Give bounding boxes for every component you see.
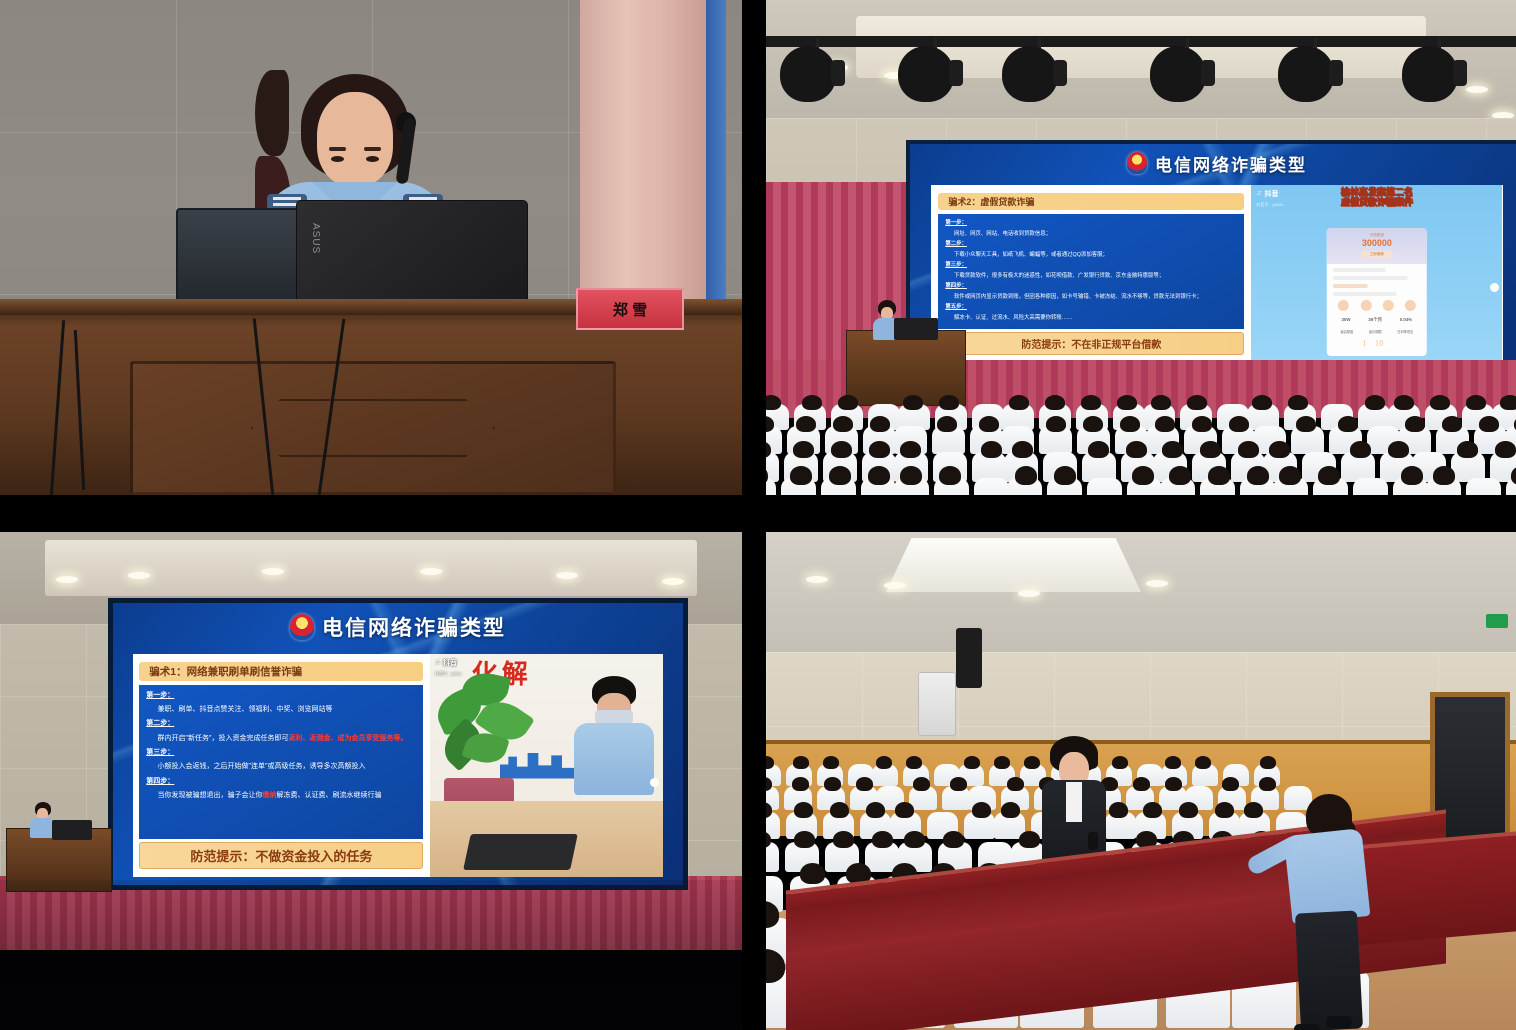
audience-head [868,466,890,485]
speaker-hair-left [255,70,289,156]
audience-head [802,395,822,410]
audience-head [979,416,999,432]
foreground-shadow [0,880,742,1030]
name-placard: 郑 雪 [576,288,684,330]
brow-right [364,147,381,151]
audience-head [1169,466,1191,485]
standing-student-shirt [1066,782,1082,822]
audience-head [1083,416,1103,432]
audience-head [866,802,885,818]
panel-bottom-left: 电信网络诈骗类型 骗术1：网络兼职刷单刷信誉诈骗 第一步：兼职、刷单、抖音点赞关… [0,532,742,1030]
audience-head [939,395,959,410]
secondary-monitor [176,208,300,312]
audience-head [1405,416,1425,432]
audience-head [900,441,921,458]
audience-head [824,777,841,791]
photo-officer-and-students [766,532,1516,1030]
audience-head [1162,441,1183,458]
eye-left [331,156,344,162]
audience-head [833,831,854,848]
audience-head [1247,466,1269,485]
audience-head [1260,756,1276,769]
audience-head [906,756,922,769]
audience-head [1479,416,1499,432]
audience-head [838,395,858,410]
auditorium-seat [1087,478,1122,495]
audience-head [830,802,849,818]
audience-head [903,395,923,410]
audience-head [1350,441,1371,458]
audience-head [823,756,839,769]
podium-front-panel [130,361,616,495]
audience-head [1495,441,1516,458]
audience-head [994,756,1010,769]
audience-head [1244,802,1263,818]
audience-head [1143,802,1162,818]
laptop-brand-mark: ASUS [311,223,321,281]
audience-top-right [766,0,1516,495]
audience-head [1132,466,1154,485]
audience-head [793,441,814,458]
audience-head [1269,441,1290,458]
audience-head [1009,395,1029,410]
audience-head [1179,802,1198,818]
audience-head [943,831,964,848]
audience-head [1007,777,1024,791]
audience-head [1466,395,1486,410]
audience-head [1388,441,1409,458]
officer-trousers [1295,910,1363,1030]
audience-head [1112,756,1128,769]
photo-screen-and-audience: 电信网络诈骗类型 骗术1：网络兼职刷单刷信誉诈骗 第一步：兼职、刷单、抖音点赞关… [0,532,742,1030]
audience-head [793,756,809,769]
auditorium-seat [974,478,1009,495]
audience-head [1252,395,1272,410]
audience-head [794,831,815,848]
audience-head [833,416,853,432]
audience-head [1054,466,1076,485]
laptop-lid: ASUS [296,200,528,306]
panel-top-right: 电信网络诈骗类型 骗术2：虚假贷款诈骗 第一步：网址、网页、网站、电话收到贷款信… [766,0,1516,495]
audience-head [1109,802,1128,818]
audience-head [1442,416,1462,432]
audience-head [904,831,925,848]
officer-figure [1282,794,1374,1030]
podium-diamond-inlay [251,399,495,457]
audience-head [1019,831,1040,848]
speaker-face [317,92,393,186]
audience-head [900,466,922,485]
auditorium-seat [766,842,779,872]
audience-head [1229,416,1249,432]
photo-collage: ASUS 郑 雪 [0,0,1516,1030]
audience-head [1288,395,1308,410]
audience-head [1120,416,1140,432]
audience-head [1012,441,1033,458]
audience-head [1433,466,1455,485]
auditorium-seat [1353,478,1388,495]
audience-head [1208,466,1230,485]
audience-head [1081,395,1101,410]
auditorium-seat [1466,478,1501,495]
audience-head [1279,466,1301,485]
photo-stage-wide: 电信网络诈骗类型 骗术2：虚假贷款诈骗 第一步：网址、网页、网站、电话收到贷款信… [766,0,1516,495]
audience-head [913,777,930,791]
audience-head [800,863,825,884]
audience-head [1365,395,1385,410]
audience-head [1001,802,1020,818]
audience-head [981,441,1002,458]
audience-head [1259,777,1276,791]
audience-head [1133,777,1150,791]
pillar [580,0,708,330]
audience-head [796,416,816,432]
audience-head [964,756,980,769]
audience-head [1457,441,1478,458]
audience-head [1500,395,1516,410]
audience-head [1187,395,1207,410]
audience-head [869,441,890,458]
laptop: ASUS [296,200,526,312]
audience-head [790,466,812,485]
audience-head [1296,416,1316,432]
name-placard-text: 郑 雪 [613,299,647,320]
audience-head [1155,416,1175,432]
officer-shoe-right [1326,1016,1352,1028]
audience-head [939,466,961,485]
handheld-microphone [1088,832,1098,850]
audience-head [1401,466,1423,485]
pillar-blue-strip [706,0,726,330]
audience-head [1165,777,1182,791]
audience-head [1165,756,1181,769]
audience-head [937,416,957,432]
audience-head [1195,756,1211,769]
panel-bottom-right [766,532,1516,1030]
audience-head [766,395,781,410]
audience-head [1338,416,1358,432]
audience-head [1015,466,1037,485]
audience-head [1192,416,1212,432]
audience-head [794,802,813,818]
audience-head [1318,466,1340,485]
audience-head [829,466,851,485]
audience-head [1200,441,1221,458]
audience-head [1045,395,1065,410]
audience-head [876,756,892,769]
audience-head [1126,441,1147,458]
audience-head [872,831,893,848]
audience-head [950,777,967,791]
audience-head [792,777,809,791]
audience-head [870,416,890,432]
audience-head [1238,441,1259,458]
audience-head [1117,395,1137,410]
audience-head [1024,756,1040,769]
audience-head [1394,395,1414,410]
audience-head [1046,416,1066,432]
audience-head [1151,395,1171,410]
audience-head [1222,777,1239,791]
audience-head [856,777,873,791]
brow-left [329,147,346,151]
audience-head [1215,802,1234,818]
audience-head [972,802,991,818]
eye-right [366,156,379,162]
officer-shoe-left [1294,1024,1320,1030]
audience-head [895,802,914,818]
photo-speaker-podium: ASUS 郑 雪 [0,0,742,495]
audience-head [1088,441,1109,458]
audience-head [1430,395,1450,410]
audience-head [831,441,852,458]
panel-top-left: ASUS 郑 雪 [0,0,742,495]
